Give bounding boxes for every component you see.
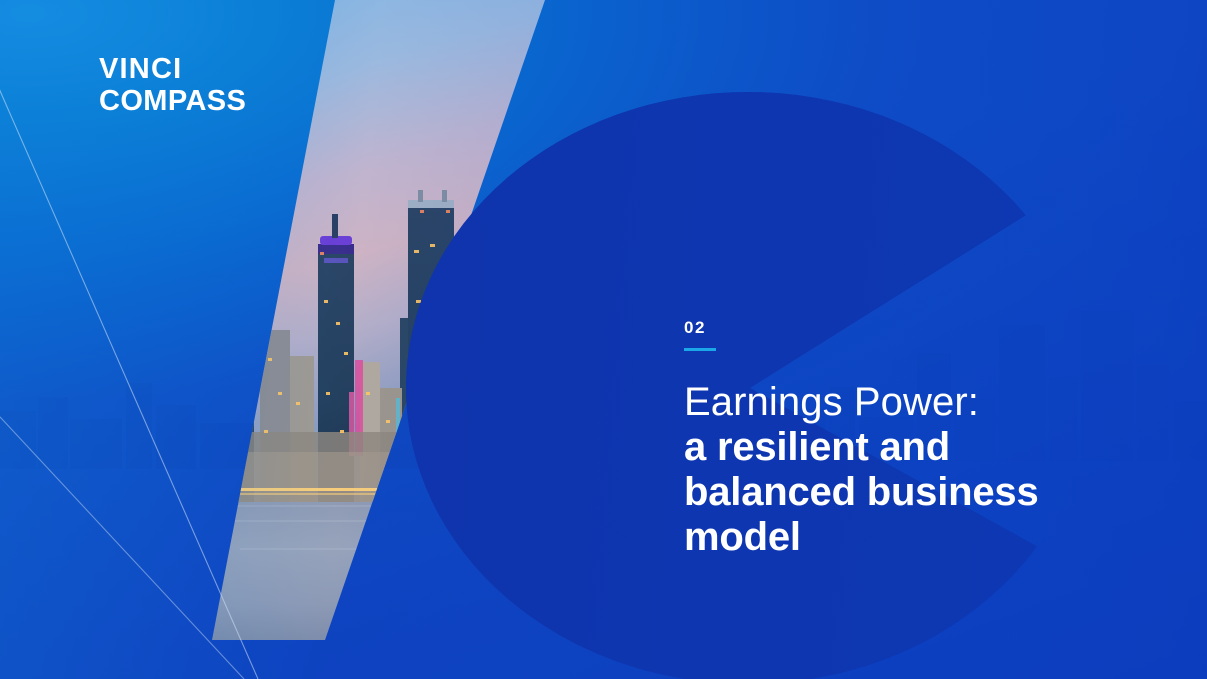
logo-line-compass: COMPASS (99, 85, 246, 117)
brand-logo: VINCI COMPASS (99, 53, 246, 117)
title-line-bold-1: a resilient and (684, 425, 1154, 470)
section-number: 02 (684, 318, 1154, 338)
accent-rule (684, 348, 716, 351)
logo-line-vinci: VINCI (99, 53, 246, 85)
background-skyline-left (0, 319, 630, 469)
title-line-bold-3: model (684, 515, 1154, 560)
section-content: 02 Earnings Power: a resilient and balan… (684, 318, 1154, 560)
title-line-bold-2: balanced business (684, 470, 1154, 515)
page-title: Earnings Power: a resilient and balanced… (684, 380, 1154, 560)
presentation-slide: VINCI COMPASS 02 Earnings Power: a resil… (0, 0, 1207, 679)
title-line-light: Earnings Power: (684, 380, 1154, 425)
